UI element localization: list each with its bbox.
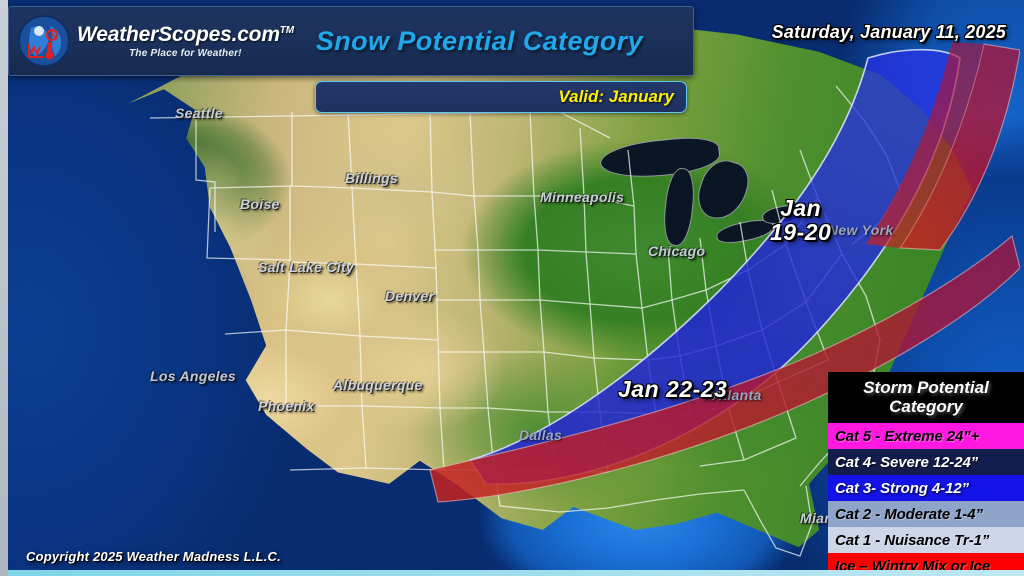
legend-title-line-1: Storm Potential bbox=[832, 378, 1020, 397]
brand-tagline: The Place for Weather! bbox=[77, 48, 294, 59]
brand-name-text: WeatherScopes.com bbox=[77, 23, 280, 46]
storm-date-label-jan-19-20: Jan 19-20 bbox=[770, 196, 831, 244]
legend-title: Storm Potential Category bbox=[828, 372, 1024, 423]
legend-row-4: Cat 2 - Moderate 1-4” bbox=[828, 501, 1024, 527]
city-label-minneapolis: Minneapolis bbox=[540, 189, 624, 205]
copyright-notice: Copyright 2025 Weather Madness L.L.C. bbox=[26, 549, 281, 564]
city-label-billings: Billings bbox=[345, 170, 398, 186]
city-label-boise: Boise bbox=[240, 196, 280, 212]
page-title: Snow Potential Category bbox=[316, 26, 643, 57]
legend-rows: Cat 5 - Extreme 24”+Cat 4- Severe 12-24”… bbox=[828, 423, 1024, 576]
legend-row-5: Cat 1 - Nuisance Tr-1” bbox=[828, 527, 1024, 553]
city-label-denver: Denver bbox=[385, 288, 434, 304]
header-bar: WeatherScopes.comTM The Place for Weathe… bbox=[8, 6, 694, 76]
city-label-phoenix: Phoenix bbox=[258, 398, 315, 414]
legend-row-2: Cat 4- Severe 12-24” bbox=[828, 449, 1024, 475]
valid-period-text: Valid: January bbox=[558, 87, 674, 107]
city-label-seattle: Seattle bbox=[175, 105, 223, 121]
city-label-new-york: New York bbox=[828, 222, 893, 238]
issue-date: Saturday, January 11, 2025 bbox=[772, 22, 1006, 43]
city-label-salt-lake-city: Salt Lake City bbox=[258, 259, 354, 275]
storm-date-label-jan-22-23: Jan 22-23 bbox=[618, 377, 727, 401]
brand-block: WeatherScopes.comTM The Place for Weathe… bbox=[77, 23, 294, 59]
legend-row-1: Cat 5 - Extreme 24”+ bbox=[828, 423, 1024, 449]
left-edge-strip bbox=[0, 0, 8, 576]
city-label-los-angeles: Los Angeles bbox=[150, 368, 236, 384]
brand-trademark: TM bbox=[280, 25, 294, 36]
valid-period-bar: Valid: January bbox=[315, 81, 687, 113]
city-label-chicago: Chicago bbox=[648, 243, 705, 259]
city-label-albuquerque: Albuquerque bbox=[333, 377, 423, 393]
globe-weather-icon bbox=[17, 14, 71, 68]
legend-row-3: Cat 3- Strong 4-12” bbox=[828, 475, 1024, 501]
storm-category-legend: Storm Potential Category Cat 5 - Extreme… bbox=[828, 372, 1024, 576]
city-label-dallas: Dallas bbox=[519, 427, 562, 443]
legend-title-line-2: Category bbox=[832, 397, 1020, 416]
weather-map-screen: SeattleBillingsBoiseSalt Lake CityDenver… bbox=[0, 0, 1024, 576]
bottom-accent-strip bbox=[0, 570, 1024, 576]
brand-name: WeatherScopes.comTM bbox=[77, 23, 294, 47]
